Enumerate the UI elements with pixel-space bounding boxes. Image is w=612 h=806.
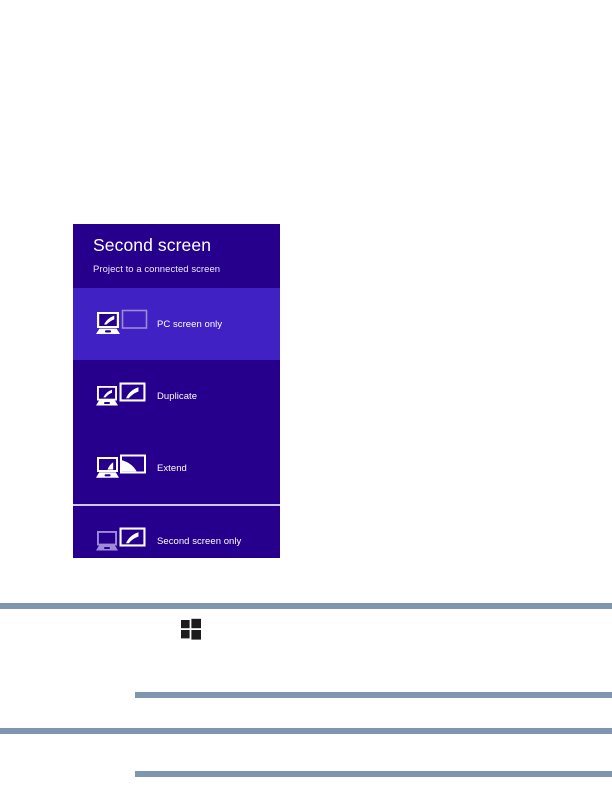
windows-logo-icon — [180, 618, 202, 640]
option-pc-screen-only[interactable]: PC screen only — [73, 288, 280, 360]
option-label: Second screen only — [157, 535, 241, 548]
laptop-active-monitor-inactive-icon — [95, 307, 149, 341]
panel-header: Second screen Project to a connected scr… — [73, 224, 280, 283]
option-duplicate[interactable]: Duplicate — [73, 360, 280, 432]
horizontal-rule — [135, 771, 612, 777]
projection-options-list: PC screen only Duplicate — [73, 288, 280, 558]
horizontal-rule — [135, 692, 612, 698]
option-label: PC screen only — [157, 318, 222, 331]
option-extend[interactable]: Extend — [73, 432, 280, 504]
second-screen-panel: Second screen Project to a connected scr… — [73, 224, 280, 558]
laptop-active-monitor-active-icon — [95, 379, 149, 413]
option-label: Duplicate — [157, 390, 197, 403]
page-title: Second screen — [93, 234, 280, 257]
option-label: Extend — [157, 462, 187, 475]
laptop-monitor-extend-icon — [95, 451, 149, 485]
laptop-inactive-monitor-active-icon — [95, 524, 149, 558]
option-second-screen-only[interactable]: Second screen only — [73, 504, 280, 558]
panel-subtitle: Project to a connected screen — [93, 263, 280, 277]
horizontal-rule — [0, 728, 612, 734]
horizontal-rule — [0, 603, 612, 609]
